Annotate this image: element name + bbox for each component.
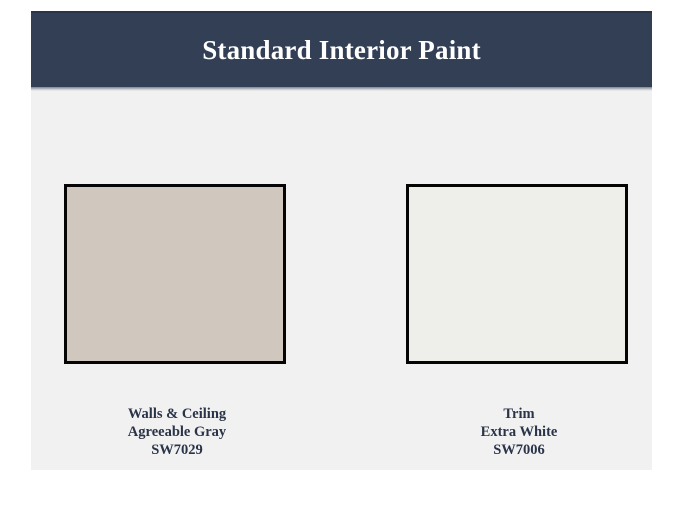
swatch-usage-label: Trim [406,405,632,423]
swatch-color-name: Agreeable Gray [64,423,290,441]
swatch-color-name: Extra White [406,423,632,441]
color-swatch-extra-white[interactable] [406,184,628,364]
swatch-caption-trim: Trim Extra White SW7006 [406,405,632,459]
swatch-color-code: SW7029 [64,441,290,459]
swatch-usage-label: Walls & Ceiling [64,405,290,423]
header-bar: Standard Interior Paint [31,11,652,87]
swatch-card-trim[interactable]: Trim Extra White SW7006 [406,184,632,459]
swatch-caption-walls-ceiling: Walls & Ceiling Agreeable Gray SW7029 [64,405,290,459]
paint-selection-board: Standard Interior Paint Walls & Ceiling … [31,11,652,470]
swatch-area: Walls & Ceiling Agreeable Gray SW7029 Tr… [31,91,652,470]
swatch-color-code: SW7006 [406,441,632,459]
page-title: Standard Interior Paint [202,37,481,64]
color-swatch-agreeable-gray[interactable] [64,184,286,364]
swatch-card-walls-ceiling[interactable]: Walls & Ceiling Agreeable Gray SW7029 [64,184,290,459]
